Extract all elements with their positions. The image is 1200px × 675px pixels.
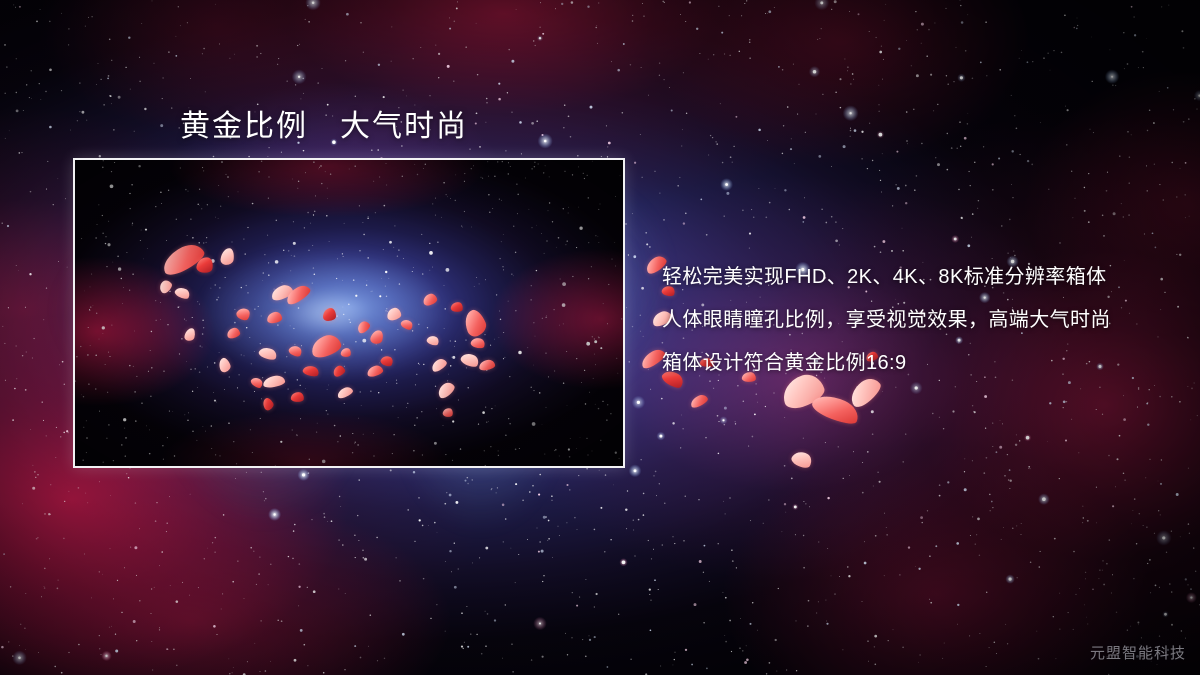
petal bbox=[309, 332, 343, 359]
petal bbox=[379, 354, 394, 368]
petal bbox=[478, 359, 495, 371]
screen-starfield bbox=[75, 160, 623, 466]
body-line-3: 箱体设计符合黄金比例16:9 bbox=[662, 342, 1182, 385]
petal bbox=[157, 278, 174, 295]
petal bbox=[266, 311, 282, 324]
petal bbox=[689, 393, 710, 409]
body-line-2: 人体眼睛瞳孔比例，享受视觉效果，高端大气时尚 bbox=[662, 299, 1182, 342]
petal bbox=[250, 375, 265, 390]
petal bbox=[459, 351, 480, 370]
petal bbox=[369, 329, 384, 346]
led-display-panel[interactable] bbox=[73, 158, 625, 468]
petal bbox=[461, 307, 489, 339]
screen-nebula-core bbox=[75, 160, 623, 466]
petal bbox=[470, 336, 486, 350]
body-copy-block: 轻松完美实现FHD、2K、4K、8K标准分辨率箱体 人体眼睛瞳孔比例，享受视觉效… bbox=[662, 256, 1182, 385]
petal bbox=[790, 448, 815, 471]
led-display-screen bbox=[75, 160, 623, 466]
page-title: 黄金比例 大气时尚 bbox=[180, 101, 468, 145]
petal bbox=[336, 385, 354, 399]
petal bbox=[442, 407, 454, 418]
petal bbox=[261, 396, 275, 411]
screen-nebula-base bbox=[75, 160, 623, 466]
watermark-label: 元盟智能科技 bbox=[1090, 642, 1186, 663]
petal bbox=[430, 357, 449, 374]
petal bbox=[302, 364, 320, 378]
petal bbox=[184, 327, 197, 342]
petal bbox=[287, 343, 303, 358]
petal bbox=[400, 317, 415, 331]
petal bbox=[386, 307, 402, 321]
slide-canvas: 黄金比例 大气时尚 轻松完美实现FHD、2K、4K、8K标准分辨率箱体 人体眼睛… bbox=[0, 0, 1200, 675]
screen-nebula-crimson bbox=[75, 160, 623, 466]
petal bbox=[174, 285, 192, 301]
petal bbox=[450, 301, 464, 313]
petal bbox=[435, 380, 457, 400]
petal bbox=[258, 345, 279, 362]
petal bbox=[422, 292, 438, 306]
petal bbox=[217, 357, 232, 374]
body-line-1: 轻松完美实现FHD、2K、4K、8K标准分辨率箱体 bbox=[662, 256, 1182, 299]
screen-vignette bbox=[75, 160, 623, 466]
petal bbox=[426, 334, 441, 347]
petal bbox=[355, 319, 371, 335]
petal bbox=[220, 247, 235, 266]
petal bbox=[262, 375, 285, 389]
petal bbox=[331, 364, 346, 378]
petal bbox=[290, 391, 304, 403]
petal bbox=[366, 364, 384, 378]
petal bbox=[340, 347, 352, 358]
petal bbox=[226, 327, 241, 339]
petal bbox=[323, 308, 336, 321]
petal bbox=[235, 305, 252, 322]
